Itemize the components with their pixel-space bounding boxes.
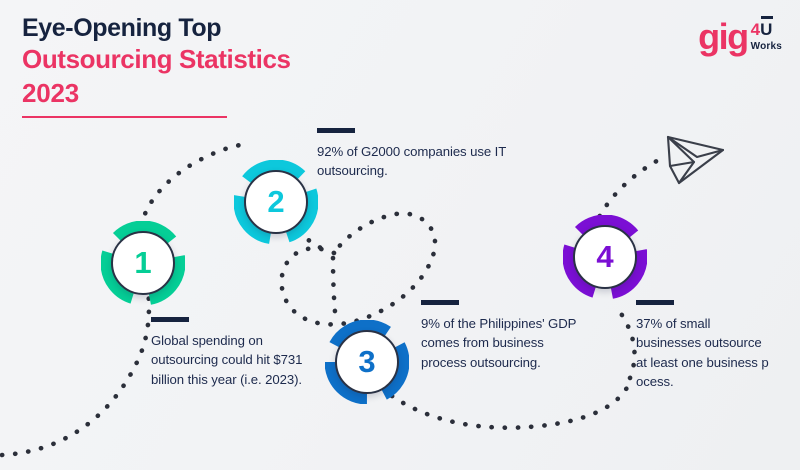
fact-block-4: 37% of small businesses outsource at lea…	[636, 300, 771, 392]
step-badge-3[interactable]: 3	[325, 320, 409, 404]
fact-text-1: Global spending on outsourcing could hit…	[151, 331, 311, 389]
step-disc-1: 1	[111, 231, 175, 295]
step-badge-2[interactable]: 2	[234, 160, 318, 244]
fact-dash-3	[421, 300, 459, 305]
step-number-3: 3	[358, 346, 375, 377]
fact-text-2: 92% of G2000 companies use IT outsourcin…	[317, 142, 517, 181]
fact-text-4: 37% of small businesses outsource at lea…	[636, 314, 771, 392]
step-number-4: 4	[596, 241, 613, 272]
fact-dash-4	[636, 300, 674, 305]
infographic-canvas: Eye-Opening Top Outsourcing Statistics 2…	[0, 0, 800, 470]
step-badge-4[interactable]: 4	[563, 215, 647, 299]
fact-dash-1	[151, 317, 189, 322]
fact-block-3: 9% of the Philippines' GDP comes from bu…	[421, 300, 581, 372]
step-number-2: 2	[267, 186, 284, 217]
paper-plane-icon	[668, 137, 723, 183]
fact-text-3: 9% of the Philippines' GDP comes from bu…	[421, 314, 581, 372]
fact-dash-2	[317, 128, 355, 133]
step-badge-1[interactable]: 1	[101, 221, 185, 305]
step-disc-3: 3	[335, 330, 399, 394]
step-disc-2: 2	[244, 170, 308, 234]
step-disc-4: 4	[573, 225, 637, 289]
step-number-1: 1	[134, 247, 151, 278]
fact-block-2: 92% of G2000 companies use IT outsourcin…	[317, 128, 517, 181]
fact-block-1: Global spending on outsourcing could hit…	[151, 317, 311, 389]
